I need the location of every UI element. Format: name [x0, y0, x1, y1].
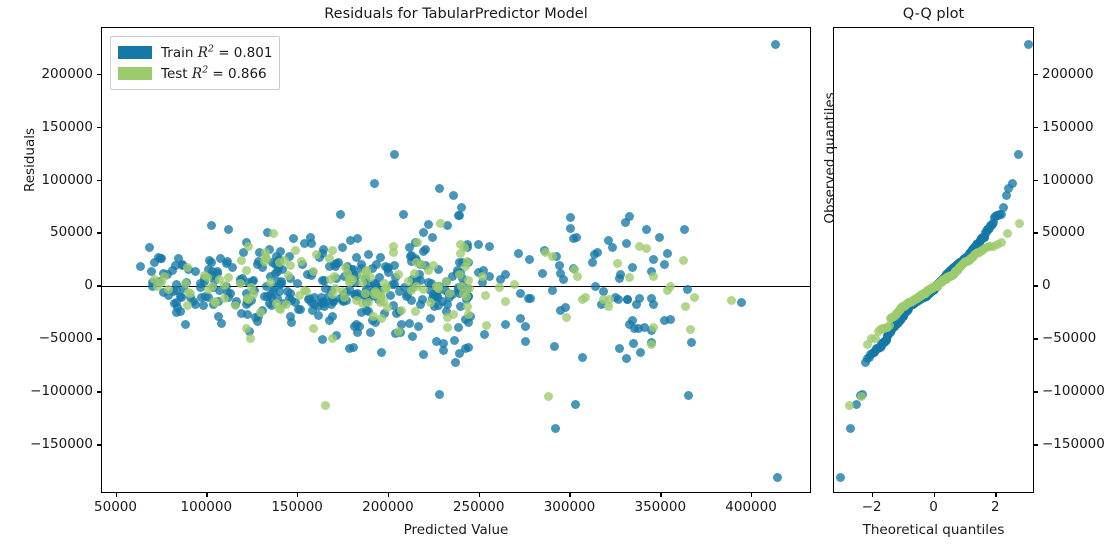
- scatter-point-train: [332, 274, 341, 283]
- scatter-point-train: [285, 252, 294, 261]
- scatter-point-test: [934, 279, 943, 288]
- scatter-point-train: [357, 264, 366, 273]
- scatter-point-train: [890, 322, 899, 331]
- scatter-point-train: [207, 258, 216, 267]
- scatter-point-train: [952, 261, 961, 270]
- legend-entry-test[interactable]: Test R2 = 0.866: [118, 63, 272, 84]
- scatter-point-test: [944, 272, 953, 281]
- scatter-point-train: [276, 247, 285, 256]
- scatter-point-train: [961, 254, 970, 263]
- scatter-point-train: [362, 298, 371, 307]
- scatter-point-train: [464, 258, 473, 267]
- y-tick-label: −100000: [30, 383, 93, 399]
- scatter-point-train: [943, 269, 952, 278]
- scatter-point-test: [244, 242, 253, 251]
- scatter-point-train: [347, 265, 356, 274]
- scatter-point-train: [958, 257, 967, 266]
- scatter-point-test: [984, 242, 993, 251]
- x-tick-label: 250000: [453, 499, 505, 515]
- y-tick-mark: [97, 285, 101, 286]
- scatter-point-test: [341, 263, 350, 272]
- scatter-point-test: [679, 256, 688, 265]
- scatter-point-train: [611, 293, 620, 302]
- scatter-point-train: [890, 322, 899, 331]
- scatter-point-test: [857, 392, 866, 401]
- scatter-point-train: [894, 317, 903, 326]
- scatter-point-test: [897, 303, 906, 312]
- scatter-point-train: [168, 266, 177, 275]
- scatter-point-train: [1008, 179, 1017, 188]
- scatter-point-train: [903, 306, 912, 315]
- scatter-point-test: [896, 305, 905, 314]
- scatter-point-test: [905, 298, 914, 307]
- scatter-point-train: [963, 253, 972, 262]
- scatter-point-train: [920, 292, 929, 301]
- scatter-point-train: [399, 210, 408, 219]
- scatter-point-test: [184, 288, 193, 297]
- scatter-point-train: [909, 299, 918, 308]
- scatter-point-train: [935, 278, 944, 287]
- scatter-point-test: [955, 263, 964, 272]
- scatter-point-train: [304, 295, 313, 304]
- scatter-point-train: [892, 320, 901, 329]
- scatter-point-train: [916, 295, 925, 304]
- scatter-point-train: [916, 294, 925, 303]
- scatter-point-train: [590, 250, 599, 259]
- y-tick-mark: [97, 338, 101, 339]
- scatter-point-train: [464, 292, 473, 301]
- scatter-point-test: [908, 297, 917, 306]
- matplotlib-figure: Residuals for TabularPredictor Model 500…: [0, 0, 1117, 547]
- qq-yaxis-label: Observed quantiles: [822, 58, 838, 258]
- scatter-point-train: [969, 245, 978, 254]
- y-tick-label: −50000: [1042, 330, 1096, 346]
- scatter-point-train: [263, 292, 272, 301]
- scatter-point-train: [307, 298, 316, 307]
- scatter-point-train: [615, 344, 624, 353]
- scatter-point-test: [371, 287, 380, 296]
- scatter-point-train: [938, 276, 947, 285]
- scatter-point-test: [886, 314, 895, 323]
- scatter-point-train: [684, 391, 693, 400]
- scatter-point-train: [954, 260, 963, 269]
- scatter-point-train: [910, 298, 919, 307]
- scatter-point-test: [256, 308, 265, 317]
- scatter-point-test: [967, 254, 976, 263]
- scatter-point-test: [284, 271, 293, 280]
- scatter-point-test: [949, 270, 958, 279]
- scatter-point-train: [953, 260, 962, 269]
- scatter-point-train: [450, 336, 459, 345]
- scatter-point-train: [951, 262, 960, 271]
- scatter-point-train: [981, 228, 990, 237]
- scatter-point-train: [435, 184, 444, 193]
- scatter-point-test: [462, 292, 471, 301]
- scatter-point-train: [380, 309, 389, 318]
- scatter-point-test: [663, 286, 672, 295]
- scatter-point-train: [647, 326, 656, 335]
- scatter-point-train: [649, 300, 658, 309]
- y-tick-mark: [1034, 444, 1038, 445]
- scatter-point-test: [959, 259, 968, 268]
- x-tick-mark: [995, 493, 996, 497]
- scatter-point-test: [917, 291, 926, 300]
- scatter-point-train: [948, 265, 957, 274]
- scatter-point-train: [900, 309, 909, 318]
- y-tick-label: −150000: [30, 436, 93, 452]
- scatter-point-train: [940, 273, 949, 282]
- scatter-point-train: [496, 275, 505, 284]
- scatter-point-test: [885, 321, 894, 330]
- scatter-point-train: [320, 302, 329, 311]
- scatter-point-train: [903, 306, 912, 315]
- scatter-point-train: [189, 297, 198, 306]
- scatter-point-test: [931, 282, 940, 291]
- scatter-point-test: [973, 248, 982, 257]
- scatter-point-train: [922, 292, 931, 301]
- scatter-point-test: [940, 275, 949, 284]
- scatter-point-train: [967, 247, 976, 256]
- scatter-point-train: [923, 290, 932, 299]
- scatter-point-test: [300, 286, 309, 295]
- scatter-point-test: [366, 273, 375, 282]
- scatter-point-train: [975, 238, 984, 247]
- scatter-point-train: [285, 294, 294, 303]
- scatter-point-train: [967, 248, 976, 257]
- scatter-point-test: [935, 279, 944, 288]
- scatter-point-train: [923, 290, 932, 299]
- scatter-point-train: [931, 283, 940, 292]
- legend-swatch-test: [118, 67, 152, 80]
- scatter-point-test: [937, 278, 946, 287]
- scatter-point-test: [930, 282, 939, 291]
- scatter-point-test: [913, 293, 922, 302]
- scatter-point-train: [950, 263, 959, 272]
- scatter-point-test: [686, 325, 695, 334]
- scatter-point-train: [172, 298, 181, 307]
- scatter-point-test: [902, 300, 911, 309]
- scatter-point-train: [501, 270, 510, 279]
- y-tick-mark: [97, 74, 101, 75]
- scatter-point-train: [944, 269, 953, 278]
- scatter-point-test: [464, 310, 473, 319]
- scatter-point-train: [552, 252, 561, 261]
- scatter-point-test: [895, 306, 904, 315]
- scatter-point-train: [461, 315, 470, 324]
- scatter-point-train: [905, 302, 914, 311]
- scatter-point-test: [464, 276, 473, 285]
- scatter-point-train: [892, 320, 901, 329]
- scatter-point-test: [635, 242, 644, 251]
- scatter-point-train: [877, 342, 886, 351]
- scatter-point-train: [929, 286, 938, 295]
- scatter-point-test: [934, 280, 943, 289]
- x-tick-mark: [569, 493, 570, 497]
- scatter-point-test: [975, 248, 984, 257]
- scatter-point-test: [953, 266, 962, 275]
- scatter-point-train: [953, 260, 962, 269]
- scatter-point-train: [945, 268, 954, 277]
- scatter-point-train: [926, 287, 935, 296]
- scatter-point-train: [449, 191, 458, 200]
- scatter-point-train: [924, 289, 933, 298]
- scatter-point-train: [251, 313, 260, 322]
- scatter-point-train: [353, 292, 362, 301]
- scatter-point-test: [977, 246, 986, 255]
- scatter-point-train: [946, 267, 955, 276]
- scatter-point-test: [224, 273, 233, 282]
- scatter-point-train: [640, 323, 649, 332]
- scatter-point-train: [925, 289, 934, 298]
- scatter-point-train: [433, 293, 442, 302]
- scatter-point-test: [269, 229, 278, 238]
- scatter-point-train: [914, 296, 923, 305]
- scatter-point-train: [895, 316, 904, 325]
- scatter-point-train: [390, 280, 399, 289]
- scatter-point-train: [156, 254, 165, 263]
- scatter-point-train: [916, 294, 925, 303]
- scatter-point-train: [928, 286, 937, 295]
- scatter-point-test: [647, 340, 656, 349]
- scatter-point-train: [907, 300, 916, 309]
- scatter-point-train: [216, 254, 225, 263]
- scatter-point-train: [327, 286, 336, 295]
- scatter-point-test: [947, 271, 956, 280]
- scatter-point-test: [880, 324, 889, 333]
- scatter-point-train: [964, 251, 973, 260]
- scatter-point-train: [628, 263, 637, 272]
- scatter-point-train: [960, 255, 969, 264]
- scatter-point-train: [616, 270, 625, 279]
- scatter-point-test: [945, 272, 954, 281]
- scatter-point-test: [242, 266, 251, 275]
- scatter-point-train: [223, 288, 232, 297]
- scatter-point-train: [973, 240, 982, 249]
- scatter-point-train: [647, 294, 656, 303]
- scatter-point-train: [159, 269, 168, 278]
- scatter-point-train: [614, 295, 623, 304]
- scatter-point-train: [178, 260, 187, 269]
- scatter-point-train: [266, 272, 275, 281]
- scatter-point-train: [928, 286, 937, 295]
- scatter-point-train: [923, 290, 932, 299]
- legend-entry-train[interactable]: Train R2 = 0.801: [118, 42, 272, 63]
- scatter-point-train: [921, 292, 930, 301]
- scatter-point-train: [538, 269, 547, 278]
- scatter-point-test: [309, 324, 318, 333]
- scatter-point-train: [320, 299, 329, 308]
- scatter-point-train: [625, 320, 634, 329]
- scatter-point-train: [342, 288, 351, 297]
- scatter-point-train: [353, 328, 362, 337]
- scatter-point-train: [920, 292, 929, 301]
- scatter-point-train: [456, 286, 465, 295]
- scatter-point-train: [913, 296, 922, 305]
- scatter-point-test: [338, 287, 347, 296]
- scatter-point-train: [604, 236, 613, 245]
- scatter-point-test: [890, 312, 899, 321]
- scatter-point-train: [933, 280, 942, 289]
- scatter-point-test: [211, 298, 220, 307]
- scatter-point-train: [237, 309, 246, 318]
- scatter-point-train: [463, 243, 472, 252]
- scatter-point-test: [275, 304, 284, 313]
- scatter-point-test: [482, 321, 491, 330]
- scatter-point-train: [880, 338, 889, 347]
- scatter-point-train: [428, 294, 437, 303]
- legend-label-train: Train R2 = 0.801: [161, 45, 272, 61]
- scatter-point-train: [392, 309, 401, 318]
- scatter-point-test: [220, 294, 229, 303]
- scatter-point-train: [919, 293, 928, 302]
- scatter-point-train: [154, 253, 163, 262]
- scatter-point-train: [955, 259, 964, 268]
- scatter-point-train: [327, 300, 336, 309]
- scatter-point-train: [566, 213, 575, 222]
- scatter-point-train: [634, 324, 643, 333]
- scatter-point-train: [934, 279, 943, 288]
- scatter-point-test: [604, 302, 613, 311]
- scatter-point-train: [927, 287, 936, 296]
- scatter-point-train: [897, 314, 906, 323]
- scatter-point-test: [898, 302, 907, 311]
- scatter-point-train: [526, 294, 535, 303]
- scatter-point-train: [863, 354, 872, 363]
- scatter-point-train: [911, 298, 920, 307]
- scatter-point-train: [961, 254, 970, 263]
- scatter-point-train: [339, 297, 348, 306]
- scatter-point-test: [407, 286, 416, 295]
- scatter-point-train: [314, 302, 323, 311]
- scatter-point-train: [274, 263, 283, 272]
- scatter-point-test: [456, 240, 465, 249]
- scatter-point-train: [898, 312, 907, 321]
- scatter-point-train: [926, 288, 935, 297]
- scatter-point-train: [213, 269, 222, 278]
- scatter-point-test: [459, 289, 468, 298]
- scatter-point-test: [933, 282, 942, 291]
- scatter-point-test: [871, 334, 880, 343]
- scatter-point-train: [925, 289, 934, 298]
- scatter-point-train: [836, 473, 845, 482]
- scatter-point-train: [361, 274, 370, 283]
- scatter-point-train: [921, 292, 930, 301]
- scatter-point-test: [510, 280, 519, 289]
- scatter-point-test: [929, 283, 938, 292]
- scatter-point-train: [968, 247, 977, 256]
- scatter-point-test: [370, 290, 379, 299]
- scatter-point-train: [909, 300, 918, 309]
- scatter-point-train: [419, 350, 428, 359]
- scatter-point-test: [394, 327, 403, 336]
- scatter-point-train: [942, 271, 951, 280]
- scatter-point-train: [891, 320, 900, 329]
- scatter-point-train: [915, 295, 924, 304]
- scatter-point-train: [987, 221, 996, 230]
- scatter-point-train: [365, 292, 374, 301]
- scatter-point-train: [971, 243, 980, 252]
- scatter-point-train: [999, 203, 1008, 212]
- scatter-point-test: [955, 263, 964, 272]
- scatter-point-train: [948, 265, 957, 274]
- scatter-point-train: [941, 272, 950, 281]
- scatter-point-train: [204, 293, 213, 302]
- scatter-point-test: [915, 292, 924, 301]
- scatter-point-train: [938, 276, 947, 285]
- scatter-point-train: [951, 262, 960, 271]
- scatter-point-test: [429, 261, 438, 270]
- scatter-point-train: [463, 240, 472, 249]
- residuals-plot-legend[interactable]: Train R2 = 0.801 Test R2 = 0.866: [110, 36, 280, 90]
- scatter-point-test: [599, 295, 608, 304]
- scatter-point-train: [958, 257, 967, 266]
- scatter-point-test: [578, 295, 587, 304]
- scatter-point-test: [326, 275, 335, 284]
- scatter-point-train: [325, 316, 334, 325]
- scatter-point-train: [287, 296, 296, 305]
- scatter-point-test: [932, 282, 941, 291]
- scatter-point-train: [278, 265, 287, 274]
- scatter-point-test: [986, 242, 995, 251]
- scatter-point-train: [964, 252, 973, 261]
- scatter-point-train: [942, 270, 951, 279]
- scatter-point-train: [856, 391, 865, 400]
- scatter-point-train: [966, 249, 975, 258]
- scatter-point-train: [944, 268, 953, 277]
- scatter-point-train: [939, 275, 948, 284]
- scatter-point-test: [570, 265, 579, 274]
- scatter-point-test: [930, 282, 939, 291]
- scatter-point-train: [263, 228, 272, 237]
- scatter-point-train: [464, 343, 473, 352]
- scatter-point-test: [377, 292, 386, 301]
- scatter-point-train: [455, 349, 464, 358]
- scatter-point-test: [948, 271, 957, 280]
- scatter-point-train: [943, 269, 952, 278]
- scatter-point-train: [934, 279, 943, 288]
- scatter-point-train: [969, 245, 978, 254]
- scatter-point-train: [540, 246, 549, 255]
- scatter-point-train: [164, 291, 173, 300]
- scatter-point-train: [918, 293, 927, 302]
- scatter-point-train: [948, 265, 957, 274]
- scatter-point-train: [946, 267, 955, 276]
- x-tick-mark: [934, 493, 935, 497]
- scatter-point-train: [201, 292, 210, 301]
- scatter-point-test: [903, 299, 912, 308]
- scatter-point-train: [571, 400, 580, 409]
- scatter-point-test: [927, 284, 936, 293]
- scatter-point-train: [286, 274, 295, 283]
- scatter-point-test: [915, 292, 924, 301]
- scatter-point-train: [997, 210, 1006, 219]
- scatter-point-test: [312, 250, 321, 259]
- x-tick-mark: [116, 493, 117, 497]
- scatter-point-train: [912, 297, 921, 306]
- scatter-point-train: [431, 292, 440, 301]
- scatter-point-train: [932, 282, 941, 291]
- scatter-point-train: [145, 243, 154, 252]
- scatter-point-train: [888, 323, 897, 332]
- scatter-point-train: [191, 267, 200, 276]
- scatter-point-train: [917, 294, 926, 303]
- scatter-point-test: [912, 294, 921, 303]
- scatter-point-test: [922, 287, 931, 296]
- scatter-point-test: [965, 256, 974, 265]
- scatter-point-train: [912, 297, 921, 306]
- scatter-point-train: [559, 275, 568, 284]
- scatter-point-train: [900, 309, 909, 318]
